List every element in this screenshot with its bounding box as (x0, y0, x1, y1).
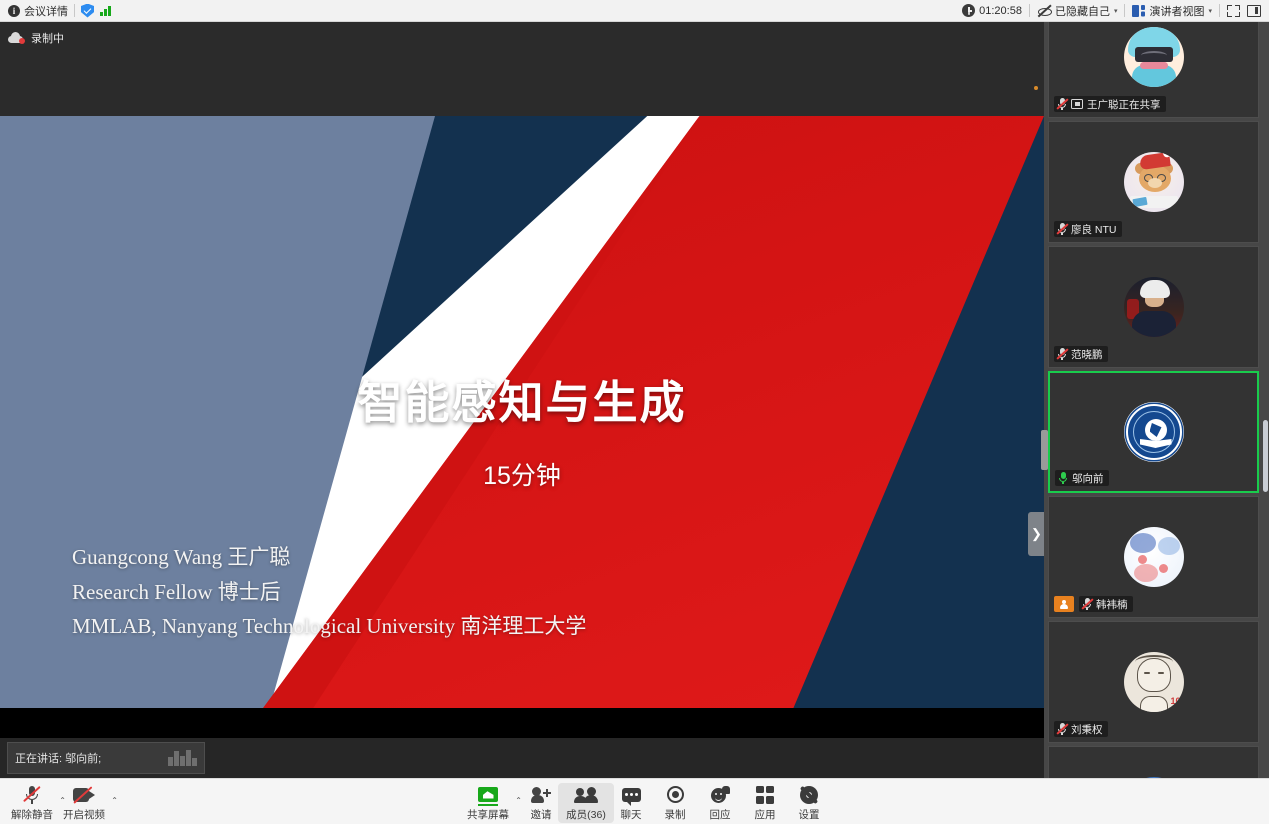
mic-muted-icon (25, 786, 39, 804)
participant-nametag: 王广聪正在共享 (1054, 96, 1166, 112)
participant-name: 王广聪正在共享 (1087, 97, 1161, 112)
participant-name: 廖良 NTU (1071, 222, 1117, 237)
participant-name: 邬向前 (1072, 471, 1104, 486)
speaking-text: 正在讲话: 邬向前; (15, 750, 101, 766)
record-icon (667, 786, 684, 803)
tool-settings[interactable]: 设置 (781, 783, 837, 823)
tool-label: 聊天 (621, 807, 642, 822)
avatar (1124, 402, 1184, 462)
presenter-line-1: Guangcong Wang 王广聪 (72, 540, 586, 575)
tool-label: 设置 (799, 807, 820, 822)
chevron-down-icon: ▾ (1114, 7, 1118, 15)
tool-start-video[interactable]: 开启视频 ⌃ (56, 783, 112, 823)
avatar (1124, 152, 1184, 212)
signal-bars-icon[interactable] (100, 5, 111, 16)
participant-nametag: 廖良 NTU (1054, 221, 1122, 237)
participants-icon (575, 787, 597, 803)
tool-label: 应用 (755, 807, 776, 822)
participant-nametag: 刘秉权 (1054, 721, 1108, 737)
tool-label: 回应 (710, 807, 731, 822)
top-bar: i 会议详情 01:20:58 已隐藏自己 ▾ 演讲者视图 (0, 0, 1269, 22)
participant-nametag: 韩袆楠 (1079, 596, 1133, 612)
participant-tile[interactable]: 范晓鹏 (1048, 246, 1259, 368)
recording-label: 录制中 (31, 30, 64, 46)
view-mode-button[interactable]: 演讲者视图 ▾ (1132, 3, 1212, 19)
shield-icon[interactable] (81, 4, 94, 18)
clock-icon (962, 4, 975, 17)
speaker-view-icon (1132, 5, 1145, 17)
participant-tile[interactable]: 王广聪正在共享 (1048, 22, 1259, 118)
elapsed-time-label: 01:20:58 (979, 5, 1022, 17)
invite-icon (531, 787, 551, 803)
meeting-details-label: 会议详情 (24, 3, 68, 19)
bottom-toolbar: 解除静音 ⌃ 开启视频 ⌃ 共享屏幕 ⌃ 邀请 成员(36) (0, 778, 1269, 824)
participant-name: 范晓鹏 (1071, 347, 1103, 362)
eye-off-icon (1037, 4, 1051, 18)
participant-nametag: 邬向前 (1055, 470, 1109, 486)
hide-self-button[interactable]: 已隐藏自己 ▾ (1037, 3, 1118, 19)
divider (1219, 4, 1220, 17)
mic-muted-icon (1057, 223, 1067, 236)
shared-screen-stage[interactable]: 智能感知与生成 15分钟 Guangcong Wang 王广聪 Research… (0, 116, 1044, 738)
divider (1029, 4, 1030, 17)
slide-title: 智能感知与生成 (0, 366, 1044, 431)
slide-subtitle: 15分钟 (0, 456, 1044, 492)
participant-tile[interactable]: 10 刘秉权 (1048, 621, 1259, 743)
presenter-info: Guangcong Wang 王广聪 Research Fellow 博士后 M… (72, 540, 586, 644)
speaking-strip: 正在讲话: 邬向前; (0, 738, 1044, 778)
apps-icon (756, 786, 774, 804)
tool-unmute[interactable]: 解除静音 ⌃ (4, 783, 60, 823)
participant-name: 韩袆楠 (1096, 597, 1128, 612)
mic-muted-icon (1057, 348, 1067, 361)
participant-tile[interactable]: 廖良 NTU (1048, 121, 1259, 243)
participant-tile-active-speaker[interactable]: 邬向前 (1048, 371, 1259, 493)
screen-share-icon (1071, 99, 1083, 109)
camera-off-icon (73, 788, 95, 802)
layout-icon[interactable] (1247, 5, 1261, 17)
chevron-down-icon: ▾ (1208, 7, 1212, 15)
mic-muted-icon (1082, 598, 1092, 611)
avatar (1124, 527, 1184, 587)
meeting-window: i 会议详情 01:20:58 已隐藏自己 ▾ 演讲者视图 (0, 0, 1269, 824)
presenter-line-2: Research Fellow 博士后 (72, 575, 586, 610)
elapsed-time: 01:20:58 (962, 4, 1022, 17)
cloud-recording-icon (8, 32, 25, 44)
presentation-slide: 智能感知与生成 15分钟 Guangcong Wang 王广聪 Research… (0, 116, 1044, 708)
divider (74, 4, 75, 17)
tool-label: 共享屏幕 (467, 807, 509, 822)
tool-label: 邀请 (531, 807, 552, 822)
host-badge-icon (1054, 596, 1074, 612)
tool-label: 开启视频 (63, 807, 105, 822)
participant-rail[interactable]: 王广聪正在共享 廖良 NTU (1044, 22, 1269, 824)
settings-gear-icon (800, 786, 818, 804)
mic-muted-icon (1057, 723, 1067, 736)
participant-tile[interactable] (1048, 746, 1259, 778)
view-mode-label: 演讲者视图 (1149, 3, 1204, 19)
rail-scrollbar[interactable] (1263, 420, 1268, 492)
participant-tile[interactable]: 韩袆楠 (1048, 496, 1259, 618)
tool-label: 解除静音 (11, 807, 53, 822)
chevron-right-icon[interactable]: ❯ (1028, 512, 1044, 556)
tool-share-screen[interactable]: 共享屏幕 ⌃ (460, 783, 516, 823)
tool-label: 成员(36) (566, 807, 606, 822)
participant-nametag: 范晓鹏 (1054, 346, 1108, 362)
info-icon: i (8, 5, 20, 17)
speaking-indicator: 正在讲话: 邬向前; (7, 742, 205, 774)
hide-self-label: 已隐藏自己 (1055, 3, 1110, 19)
fullscreen-icon[interactable] (1227, 5, 1240, 17)
divider (1124, 4, 1125, 17)
avatar (1124, 277, 1184, 337)
tool-label: 录制 (665, 807, 686, 822)
chat-icon (622, 788, 641, 802)
avatar (1124, 27, 1184, 87)
presenter-line-3: MMLAB, Nanyang Technological University … (72, 609, 586, 644)
meeting-details-button[interactable]: i 会议详情 (8, 3, 68, 19)
avatar: 10 (1124, 652, 1184, 712)
mic-on-icon (1058, 472, 1068, 485)
participant-name: 刘秉权 (1071, 722, 1103, 737)
recording-indicator[interactable]: 录制中 (8, 30, 64, 46)
participant-list[interactable]: 王广聪正在共享 廖良 NTU (1044, 22, 1263, 778)
share-screen-icon (478, 787, 498, 802)
status-dot (1034, 86, 1038, 90)
recording-strip: 录制中 (0, 22, 1044, 116)
mic-muted-icon (1057, 98, 1067, 111)
reactions-icon (710, 786, 730, 803)
audio-wave-icon (168, 750, 197, 766)
chevron-up-icon[interactable]: ⌃ (111, 796, 118, 805)
